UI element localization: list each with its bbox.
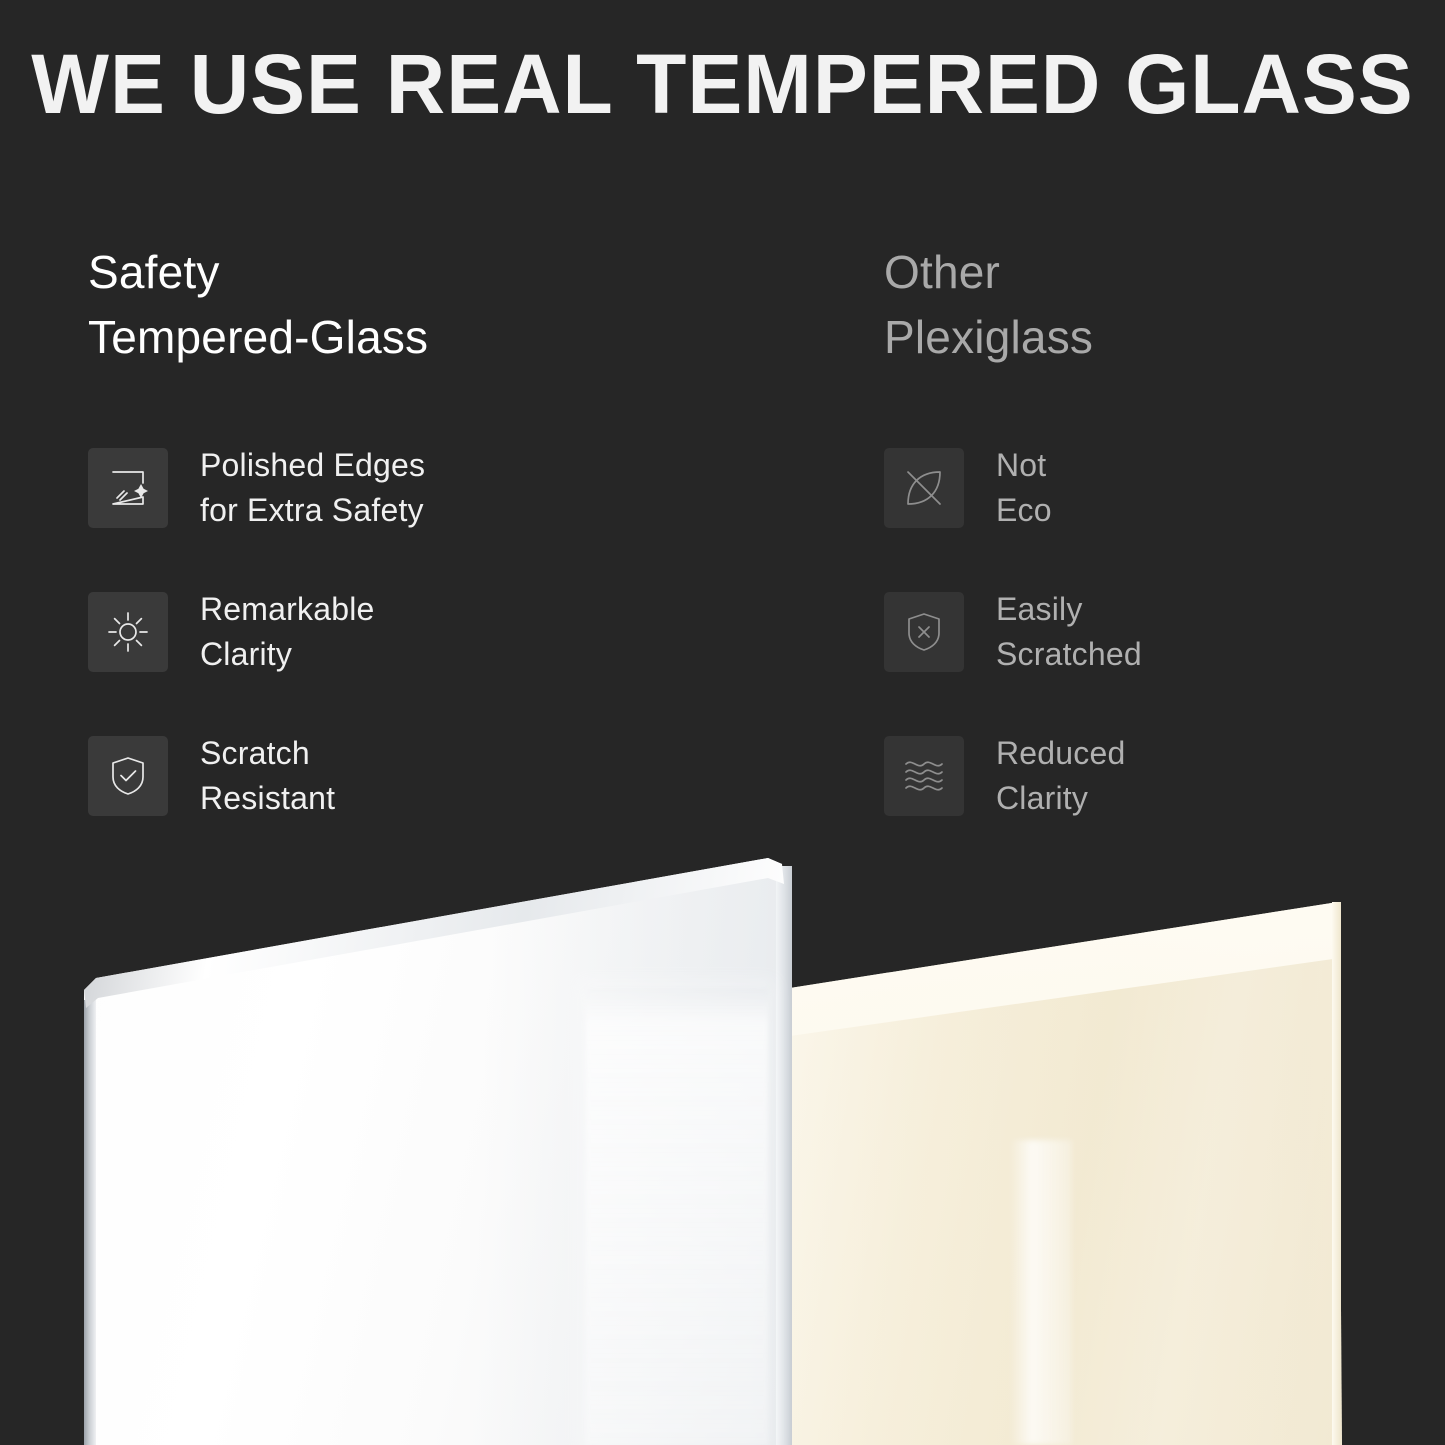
feature-label: Not Eco <box>996 443 1052 533</box>
shield-x-icon <box>884 592 964 672</box>
wavy-lines-icon <box>884 736 964 816</box>
feature-label: Easily Scratched <box>996 587 1142 677</box>
feature-label: Reduced Clarity <box>996 731 1126 821</box>
feature-item: Reduced Clarity <box>884 733 1424 819</box>
feature-item: Polished Edges for Extra Safety <box>88 445 788 531</box>
feature-item: Easily Scratched <box>884 589 1424 675</box>
feature-label: Scratch Resistant <box>200 731 335 821</box>
tempered-glass-left-bevel <box>84 1000 96 1445</box>
feature-item: Remarkable Clarity <box>88 589 788 675</box>
plexiglass-shading <box>790 840 1445 1445</box>
plexiglass-right-edge <box>1332 902 1341 1445</box>
column-heading-right: Other Plexiglass <box>884 240 1424 371</box>
feature-item: Not Eco <box>884 445 1424 531</box>
wavy-lines-glyph <box>902 754 946 798</box>
tempered-glass-reflection <box>586 988 768 1445</box>
column-heading-left: Safety Tempered-Glass <box>88 240 788 371</box>
leaf-slashed-glyph <box>902 466 946 510</box>
page-title: WE USE REAL TEMPERED GLASS <box>14 36 1430 133</box>
sun-clarity-glyph <box>106 610 150 654</box>
infographic-page: WE USE REAL TEMPERED GLASS Safety Temper… <box>0 0 1445 1445</box>
leaf-slashed-icon <box>884 448 964 528</box>
product-panels <box>0 840 1445 1445</box>
feature-label: Polished Edges for Extra Safety <box>200 443 425 533</box>
polished-glass-sparkle-icon <box>88 448 168 528</box>
sun-clarity-icon <box>88 592 168 672</box>
shield-check-glyph <box>106 754 150 798</box>
feature-list-right: Not Eco Easily Scratched <box>884 445 1424 819</box>
feature-item: Scratch Resistant <box>88 733 788 819</box>
shield-x-glyph <box>902 610 946 654</box>
feature-list-left: Polished Edges for Extra Safety Remarkab… <box>88 445 788 819</box>
tempered-glass-right-bevel <box>776 866 792 1445</box>
feature-label: Remarkable Clarity <box>200 587 375 677</box>
polished-glass-sparkle-glyph <box>106 466 150 510</box>
shield-check-icon <box>88 736 168 816</box>
comparison-column-plexiglass: Other Plexiglass Not Eco <box>884 240 1424 819</box>
plexiglass-reflection <box>1010 1140 1072 1445</box>
comparison-column-tempered-glass: Safety Tempered-Glass Polished Edges for… <box>88 240 788 819</box>
